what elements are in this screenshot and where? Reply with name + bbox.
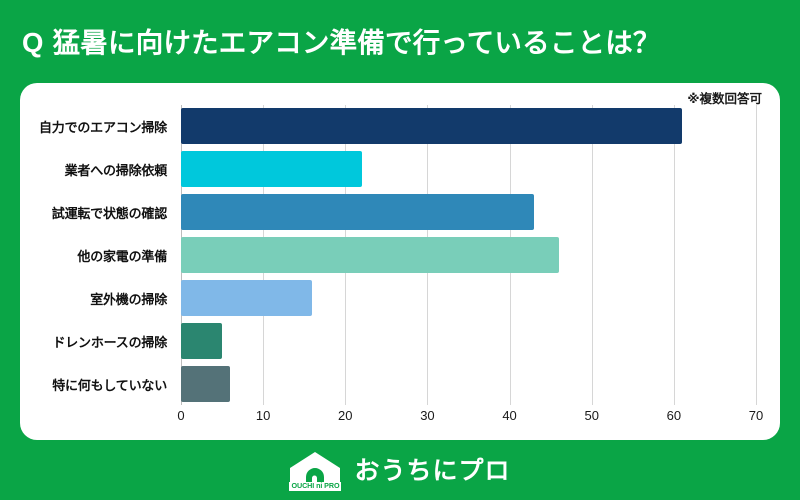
- x-tick-label: 30: [420, 408, 434, 423]
- page-title: Q 猛暑に向けたエアコン準備で行っていることは？: [22, 18, 782, 68]
- category-label: 他の家電の準備: [20, 237, 175, 273]
- category-axis-labels: 自力でのエアコン掃除 業者への掃除依頼 試運転で状態の確認 他の家電の準備 室外…: [20, 105, 175, 405]
- bar: [181, 237, 559, 273]
- chart-card: ※複数回答可 自力でのエアコン掃除 業者への掃除依頼 試運転で状態の確認 他の家…: [20, 83, 780, 440]
- bar: [181, 323, 222, 359]
- gridline: [756, 105, 757, 405]
- x-tick-label: 50: [584, 408, 598, 423]
- bar: [181, 108, 682, 144]
- x-tick-label: 40: [502, 408, 516, 423]
- footer-logo: OUCHI ni PRO おうちにプロ: [0, 442, 800, 500]
- category-label: 業者への掃除依頼: [20, 151, 175, 187]
- category-label: ドレンホースの掃除: [20, 323, 175, 359]
- bar-row: [181, 323, 756, 359]
- bar-series: [181, 105, 756, 405]
- question-title: 猛暑に向けたエアコン準備で行っていることは？: [53, 29, 661, 57]
- bar-row: [181, 108, 756, 144]
- bar: [181, 366, 230, 402]
- x-tick-label: 10: [256, 408, 270, 423]
- bar-row: [181, 194, 756, 230]
- bar-row: [181, 237, 756, 273]
- bar-row: [181, 280, 756, 316]
- category-label: 試運転で状態の確認: [20, 194, 175, 230]
- logo-badge-text: OUCHI ni PRO: [289, 481, 341, 490]
- category-label: 室外機の掃除: [20, 280, 175, 316]
- x-tick-label: 70: [749, 408, 763, 423]
- category-label: 特に何もしていない: [20, 366, 175, 402]
- x-tick-label: 20: [338, 408, 352, 423]
- bar-row: [181, 151, 756, 187]
- logo-wordmark: おうちにプロ: [354, 459, 510, 484]
- bar-row: [181, 366, 756, 402]
- bar: [181, 151, 362, 187]
- plot-area: [181, 105, 756, 405]
- category-label: 自力でのエアコン掃除: [20, 108, 175, 144]
- house-icon: OUCHI ni PRO: [289, 451, 341, 491]
- bar: [181, 280, 312, 316]
- bar: [181, 194, 534, 230]
- x-axis: 010203040506070: [181, 405, 756, 431]
- x-tick-label: 0: [177, 408, 184, 423]
- question-marker: Q: [22, 29, 44, 57]
- x-tick-label: 60: [667, 408, 681, 423]
